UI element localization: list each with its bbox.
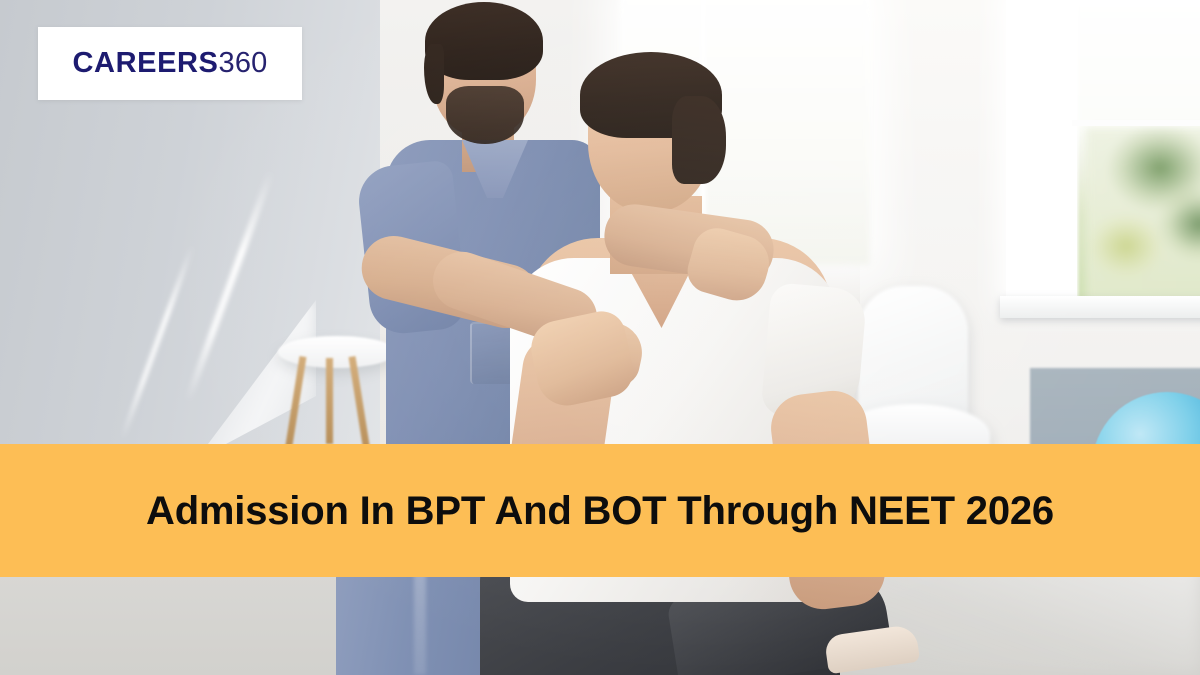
window-sill <box>1000 296 1200 318</box>
logo-brand-suffix: 360 <box>219 47 268 79</box>
logo-wordmark: CAREERS360 <box>73 49 268 78</box>
side-table-leg <box>326 358 333 444</box>
patient-hair-side <box>672 96 726 184</box>
window-mullion-vertical <box>1072 0 1077 302</box>
therapist-beard <box>446 86 524 144</box>
headline-banner: Admission In BPT And BOT Through NEET 20… <box>0 444 1200 577</box>
banner-canvas: CAREERS360 Admission In BPT And BOT Thro… <box>0 0 1200 675</box>
careers360-logo[interactable]: CAREERS360 <box>38 27 302 100</box>
headline-title: Admission In BPT And BOT Through NEET 20… <box>146 489 1054 533</box>
logo-brand-primary: CAREERS <box>73 47 219 79</box>
window-mullion-horizontal <box>1072 120 1200 126</box>
window-foliage <box>1086 128 1200 304</box>
side-table-top <box>278 336 396 368</box>
